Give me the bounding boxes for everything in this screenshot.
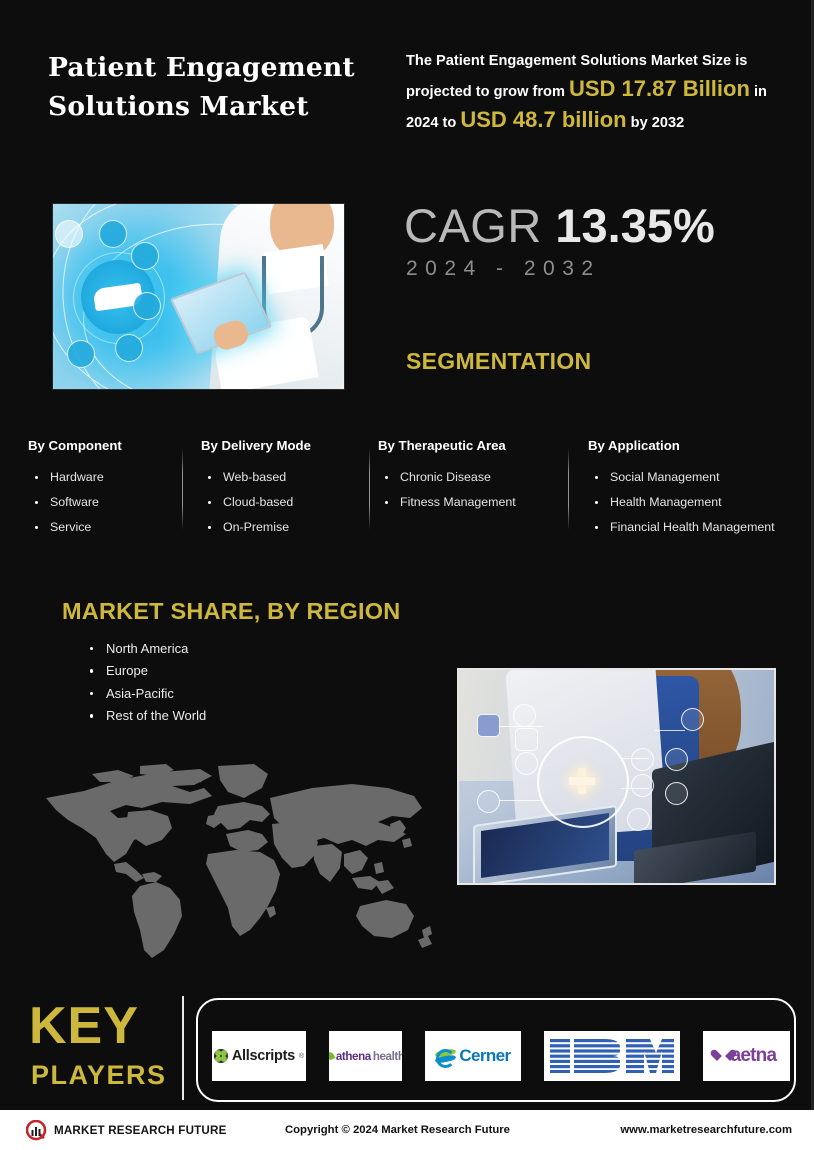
blurb-value-2024: USD 17.87 Billion [569, 76, 750, 101]
market-share-title: MARKET SHARE, BY REGION [62, 598, 400, 625]
segmentation-divider-2 [369, 448, 370, 530]
segmentation-divider-1 [182, 448, 183, 530]
cagr-block: CAGR 13.35% [404, 198, 715, 253]
node-icon-d [665, 782, 688, 805]
image-icon [515, 728, 538, 751]
segmentation-title: SEGMENTATION [406, 348, 591, 375]
network-node-icon-6 [55, 220, 83, 248]
key-players-label-line1: KEY [29, 1000, 139, 1052]
node-icon-left [477, 790, 500, 813]
hero-image-clinician-hologram [457, 668, 776, 885]
cagr-value: 13.35% [555, 199, 714, 252]
list-item: Cloud-based [201, 490, 366, 515]
logo-cerner: Cerner [425, 1031, 522, 1081]
list-item: Asia-Pacific [84, 683, 206, 705]
aetna-text: aetna [731, 1045, 777, 1067]
footer-copyright: Copyright © 2024 Market Research Future [285, 1124, 510, 1136]
athenahealth-leaf-icon [329, 1051, 335, 1062]
node-icon-c [665, 748, 688, 771]
list-item: Software [28, 490, 178, 515]
hologram-line-5 [655, 730, 685, 731]
blurb-value-2032: USD 48.7 billion [460, 107, 626, 132]
cerner-swoosh-icon [435, 1048, 456, 1064]
segmentation-section: By Component Hardware Software Service B… [20, 438, 800, 542]
list-item: North America [84, 638, 206, 660]
allscripts-trademark: ® [299, 1053, 304, 1060]
logo-ibm [544, 1031, 680, 1081]
segmentation-column-therapeutic-area: By Therapeutic Area Chronic Disease Fitn… [378, 438, 568, 515]
cagr-label: CAGR [404, 199, 555, 252]
cagr-period: 2024 - 2032 [406, 257, 601, 281]
medical-cross-icon [569, 768, 595, 794]
list-item: Rest of the World [84, 705, 206, 727]
network-node-icon-5 [67, 340, 95, 368]
list-item: Chronic Disease [378, 465, 568, 490]
key-players-logo-row: Allscripts ® athena health Cerner [208, 1030, 790, 1082]
hero-image-doctor-tablet [52, 203, 345, 390]
infographic-page: Patient Engagement Solutions Market The … [0, 0, 814, 1150]
footer-brand-text: MARKET RESEARCH FUTURE [54, 1124, 227, 1137]
list-item: Social Management [588, 465, 803, 490]
logo-aetna: aetna [703, 1031, 790, 1081]
node-icon-b [631, 774, 654, 797]
segmentation-list: Hardware Software Service [28, 465, 178, 540]
world-map [22, 758, 437, 978]
list-item: Europe [84, 660, 206, 682]
phone-icon [515, 752, 538, 775]
hologram-line-2 [499, 800, 543, 801]
segmentation-heading: By Delivery Mode [201, 438, 366, 453]
segmentation-divider-3 [568, 448, 569, 530]
blurb-post: by 2032 [627, 115, 685, 131]
footer-url[interactable]: www.marketresearchfuture.com [620, 1124, 792, 1136]
search-icon [513, 704, 536, 727]
segmentation-list: Chronic Disease Fitness Management [378, 465, 568, 515]
footer-brand: MARKET RESEARCH FUTURE [26, 1120, 227, 1141]
list-item: Service [28, 515, 178, 540]
list-item: Hardware [28, 465, 178, 490]
allscripts-mark-icon [214, 1049, 228, 1063]
node-icon-f [681, 708, 704, 731]
aetna-heart-icon [717, 1050, 730, 1062]
market-size-blurb: The Patient Engagement Solutions Market … [406, 48, 802, 137]
network-node-icon-1 [99, 220, 127, 248]
ibm-logo-icon [550, 1039, 674, 1073]
list-item: Fitness Management [378, 490, 568, 515]
market-research-future-logo-icon [26, 1120, 47, 1141]
list-item: Health Management [588, 490, 803, 515]
footer-bar: MARKET RESEARCH FUTURE Copyright © 2024 … [0, 1110, 814, 1150]
network-node-icon-3 [133, 292, 161, 320]
logo-allscripts: Allscripts ® [212, 1031, 306, 1081]
list-item: Web-based [201, 465, 366, 490]
market-share-region-list: North America Europe Asia-Pacific Rest o… [84, 638, 206, 728]
segmentation-list: Social Management Health Management Fina… [588, 465, 803, 540]
segmentation-column-application: By Application Social Management Health … [588, 438, 803, 540]
node-icon-a [631, 748, 654, 771]
logo-athenahealth: athena health [329, 1031, 402, 1081]
network-node-icon-2 [131, 242, 159, 270]
network-node-icon-4 [115, 334, 143, 362]
page-title: Patient Engagement Solutions Market [48, 48, 408, 126]
node-icon-e [627, 808, 650, 831]
cerner-text: Cerner [459, 1046, 510, 1066]
list-item: Financial Health Management [588, 515, 803, 540]
key-players-divider [182, 996, 184, 1100]
allscripts-text: Allscripts [232, 1048, 295, 1064]
athenahealth-text-2: health [373, 1050, 402, 1063]
segmentation-list: Web-based Cloud-based On-Premise [201, 465, 366, 540]
folder-icon [477, 714, 500, 737]
segmentation-column-delivery-mode: By Delivery Mode Web-based Cloud-based O… [201, 438, 366, 540]
segmentation-heading: By Therapeutic Area [378, 438, 568, 453]
segmentation-heading: By Component [28, 438, 178, 453]
list-item: On-Premise [201, 515, 366, 540]
segmentation-column-component: By Component Hardware Software Service [28, 438, 178, 540]
key-players-label-line2: PLAYERS [31, 1060, 167, 1091]
segmentation-heading: By Application [588, 438, 803, 453]
athenahealth-text-1: athena [336, 1050, 371, 1063]
